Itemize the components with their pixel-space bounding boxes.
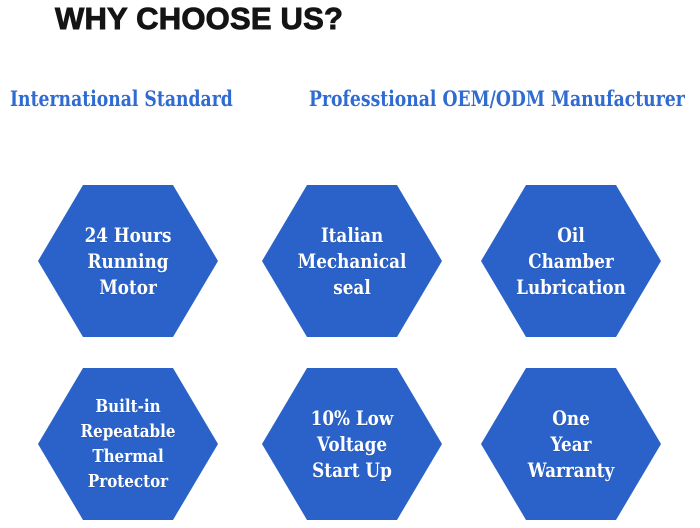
feature-label: 10% Low Voltage Start Up — [293, 405, 411, 483]
feature-hexagon-italian-mechanical-seal: Italian Mechanical seal — [262, 185, 442, 337]
feature-hexagon-24-hours-running-motor: 24 Hours Running Motor — [38, 185, 218, 337]
feature-hexagon-built-in-thermal-protector: Built-in Repeatable Thermal Protector — [38, 368, 218, 520]
why-choose-us-infographic: WHY CHOOSE US? International Standard Pr… — [0, 0, 700, 528]
feature-hexagon-low-voltage-start-up: 10% Low Voltage Start Up — [262, 368, 442, 520]
feature-label: 24 Hours Running Motor — [69, 222, 187, 300]
feature-label: One Year Warranty — [512, 405, 630, 483]
feature-label: Oil Chamber Lubrication — [512, 222, 630, 300]
feature-hexagon-one-year-warranty: One Year Warranty — [481, 368, 661, 520]
feature-label: Italian Mechanical seal — [293, 222, 411, 300]
feature-hexagon-grid: 24 Hours Running Motor Italian Mechanica… — [0, 0, 700, 528]
feature-label: Built-in Repeatable Thermal Protector — [69, 394, 187, 494]
feature-hexagon-oil-chamber-lubrication: Oil Chamber Lubrication — [481, 185, 661, 337]
